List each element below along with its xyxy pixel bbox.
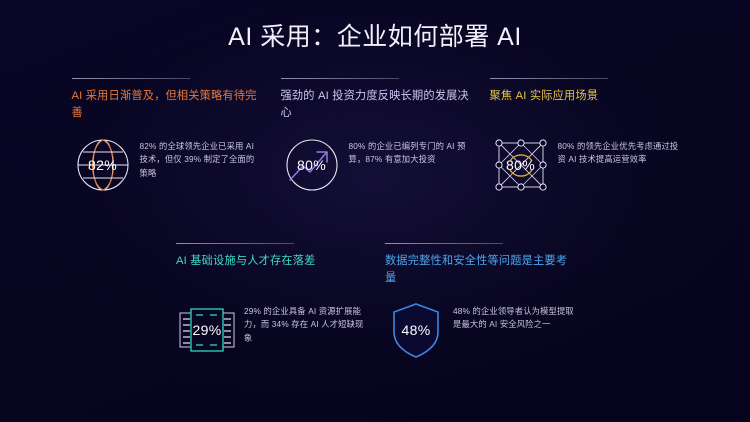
card-divider — [72, 78, 190, 79]
card-body: 29% 29% 的企业具备 AI 资源扩展能力，而 34% 存在 AI 人才短缺… — [176, 299, 365, 361]
card-body: 48% 48% 的企业领导者认为模型提取是最大的 AI 安全风险之一 — [385, 299, 574, 361]
card-row-bottom: AI 基础设施与人才存在落差 — [0, 243, 750, 361]
card-divider — [176, 243, 294, 244]
card-heading: 强劲的 AI 投资力度反映长期的发展决心 — [281, 88, 470, 122]
card-divider — [490, 78, 608, 79]
server-rack-icon: 29% — [176, 299, 238, 361]
shield-icon: 48% — [385, 299, 447, 361]
slide-canvas: AI 采用：企业如何部署 AI AI 采用日渐普及，但相关策略有待完善 — [0, 0, 750, 422]
page-title: AI 采用：企业如何部署 AI — [0, 22, 750, 52]
card-heading: 聚焦 AI 实际应用场景 — [490, 88, 679, 122]
card-infrastructure-talent-gap[interactable]: AI 基础设施与人才存在落差 — [168, 243, 373, 361]
card-heading: 数据完整性和安全性等问题是主要考量 — [385, 253, 574, 287]
card-stat-text: 82% 的全球领先企业已采用 AI 技术，但仅 39% 制定了全面的策略 — [140, 134, 261, 180]
card-ai-adoption-widespread[interactable]: AI 采用日渐普及，但相关策略有待完善 82% 82% 的全球领先企业已采用 A… — [64, 78, 269, 196]
card-body: 82% 82% 的全球领先企业已采用 AI 技术，但仅 39% 制定了全面的策略 — [72, 134, 261, 196]
card-divider — [281, 78, 399, 79]
card-body: 80% 80% 的企业已编列专门的 AI 预算，87% 有意加大投资 — [281, 134, 470, 196]
card-data-integrity-security[interactable]: 数据完整性和安全性等问题是主要考量 48% 48% 的企业领导者认为模型提取是最… — [377, 243, 582, 361]
globe-icon: 82% — [72, 134, 134, 196]
card-stat-text: 48% 的企业领导者认为模型提取是最大的 AI 安全风险之一 — [453, 299, 574, 332]
card-focus-real-use-cases[interactable]: 聚焦 AI 实际应用场景 — [482, 78, 687, 196]
trend-arrow-icon: 80% — [281, 134, 343, 196]
card-stat-text: 80% 的企业已编列专门的 AI 预算，87% 有意加大投资 — [349, 134, 470, 167]
card-body: 80% 80% 的领先企业优先考虑通过投资 AI 技术提高运营效率 — [490, 134, 679, 196]
network-nodes-icon: 80% — [490, 134, 552, 196]
card-row-top: AI 采用日渐普及，但相关策略有待完善 82% 82% 的全球领先企业已采用 A… — [0, 78, 750, 196]
card-heading: AI 基础设施与人才存在落差 — [176, 253, 365, 287]
card-stat-text: 29% 的企业具备 AI 资源扩展能力，而 34% 存在 AI 人才短缺现象 — [244, 299, 365, 345]
card-stat-text: 80% 的领先企业优先考虑通过投资 AI 技术提高运营效率 — [558, 134, 679, 167]
card-heading: AI 采用日渐普及，但相关策略有待完善 — [72, 88, 261, 122]
card-strong-ai-investment[interactable]: 强劲的 AI 投资力度反映长期的发展决心 80% 80% 的企业已编列专门的 A… — [273, 78, 478, 196]
card-divider — [385, 243, 503, 244]
